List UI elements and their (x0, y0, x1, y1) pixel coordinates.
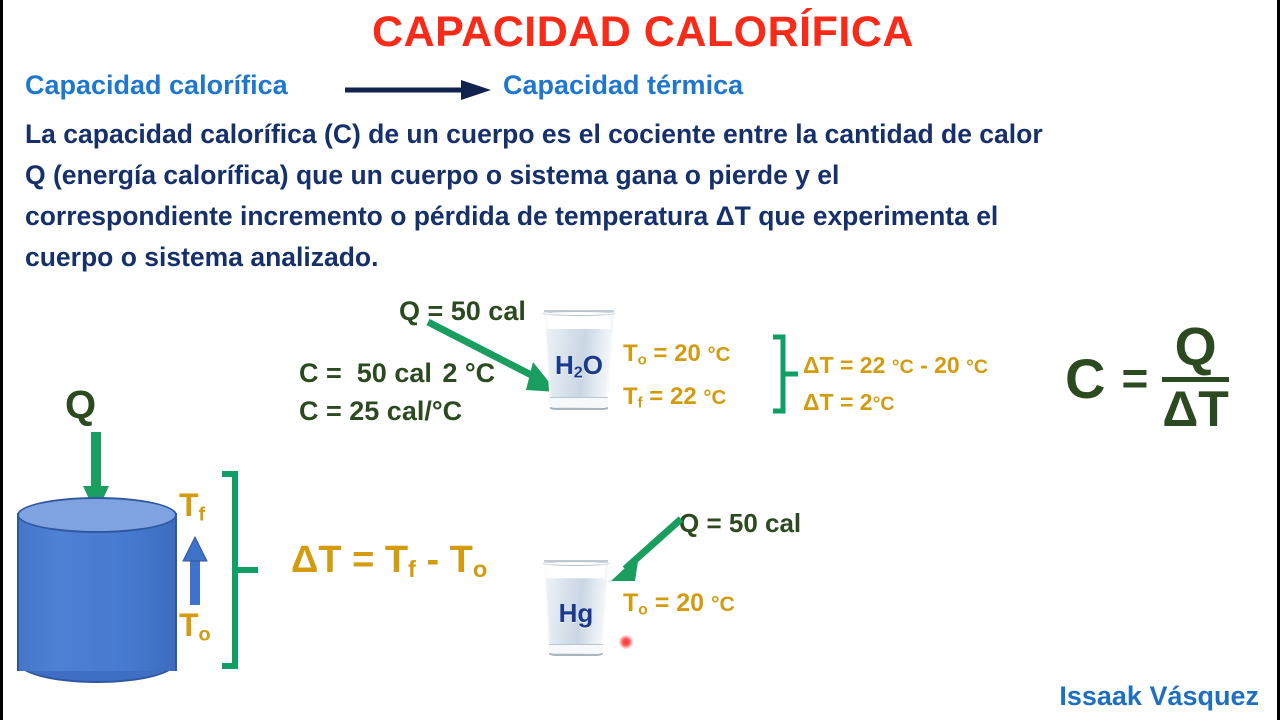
subheading-left: Capacidad calorífica (25, 70, 288, 101)
paragraph-line-4: cuerpo o sistema analizado. (25, 237, 1261, 278)
cylinder-side (17, 513, 177, 671)
subheading-right: Capacidad térmica (503, 70, 743, 101)
cylinder-delta-t-formula: ΔT = Tf - To (291, 539, 487, 583)
right-arrow-icon (343, 79, 493, 101)
main-formula-c: C (1065, 346, 1105, 411)
main-formula-numerator: Q (1162, 322, 1228, 373)
water-final-temperature: Tf = 22 °C (623, 383, 726, 411)
mercury-glass: Hg (541, 560, 611, 656)
cylinder-temp-bracket-icon (217, 470, 259, 670)
glass-air-gap (545, 564, 607, 579)
page-title: CAPACIDAD CALORÍFICA (3, 8, 1280, 57)
author-signature: Issaak Vásquez (1059, 681, 1259, 712)
calc-result: C = 25 cal/°C (299, 396, 495, 427)
calc-fraction: 50 cal 2 °C (351, 358, 495, 389)
main-formula-fraction: Q ΔT (1162, 322, 1228, 434)
paragraph-line-3: correspondiente incremento o pérdida de … (25, 196, 1261, 237)
glass-rim (543, 561, 609, 566)
calc-denominator: 2 °C (442, 356, 495, 388)
slide-canvas: CAPACIDAD CALORÍFICA Capacidad calorífic… (0, 0, 1280, 720)
glass-air-gap (546, 314, 613, 330)
paragraph-line-2: Q (energía calorífica) que un cuerpo o s… (25, 155, 1261, 196)
mercury-initial-temperature: To = 20 °C (623, 589, 735, 619)
water-initial-temperature: To = 20 °C (623, 340, 730, 368)
cylinder-initial-temperature: To (179, 607, 211, 646)
cylinder-top-ellipse (17, 497, 177, 533)
main-formula-equals: = (1121, 351, 1148, 405)
water-glass-label: H2O (541, 350, 617, 383)
cylinder-final-temperature: Tf (179, 487, 205, 526)
water-delta-t-line-2: ΔT = 2°C (803, 389, 895, 416)
calc-c-label: C = (299, 358, 342, 389)
mercury-heat-label: Q = 50 cal (679, 508, 801, 539)
laser-pointer-cursor (619, 635, 633, 649)
cylinder-body-illustration (17, 497, 177, 687)
calc-numerator: 50 cal (351, 358, 438, 389)
glass-rim (543, 311, 614, 316)
temperature-rise-arrow-icon (181, 535, 209, 607)
water-delta-t-line-1: ΔT = 22 °C - 20 °C (803, 352, 988, 379)
cylinder-heat-label: Q (65, 383, 96, 428)
main-formula-denominator: ΔT (1162, 384, 1228, 434)
heat-arrow-to-mercury-icon (607, 515, 687, 587)
mercury-glass-label: Hg (541, 598, 611, 629)
glass-base (550, 397, 608, 407)
water-temp-bracket-icon (769, 334, 799, 414)
paragraph-line-1: La capacidad calorífica (C) de un cuerpo… (25, 114, 1261, 155)
water-glass: H2O (541, 310, 617, 410)
glass-base (549, 644, 602, 654)
main-formula: C = Q ΔT (1065, 322, 1229, 434)
water-capacity-calculation: C = 50 cal 2 °C C = 25 cal/°C (299, 358, 495, 427)
definition-paragraph: La capacidad calorífica (C) de un cuerpo… (25, 114, 1261, 278)
